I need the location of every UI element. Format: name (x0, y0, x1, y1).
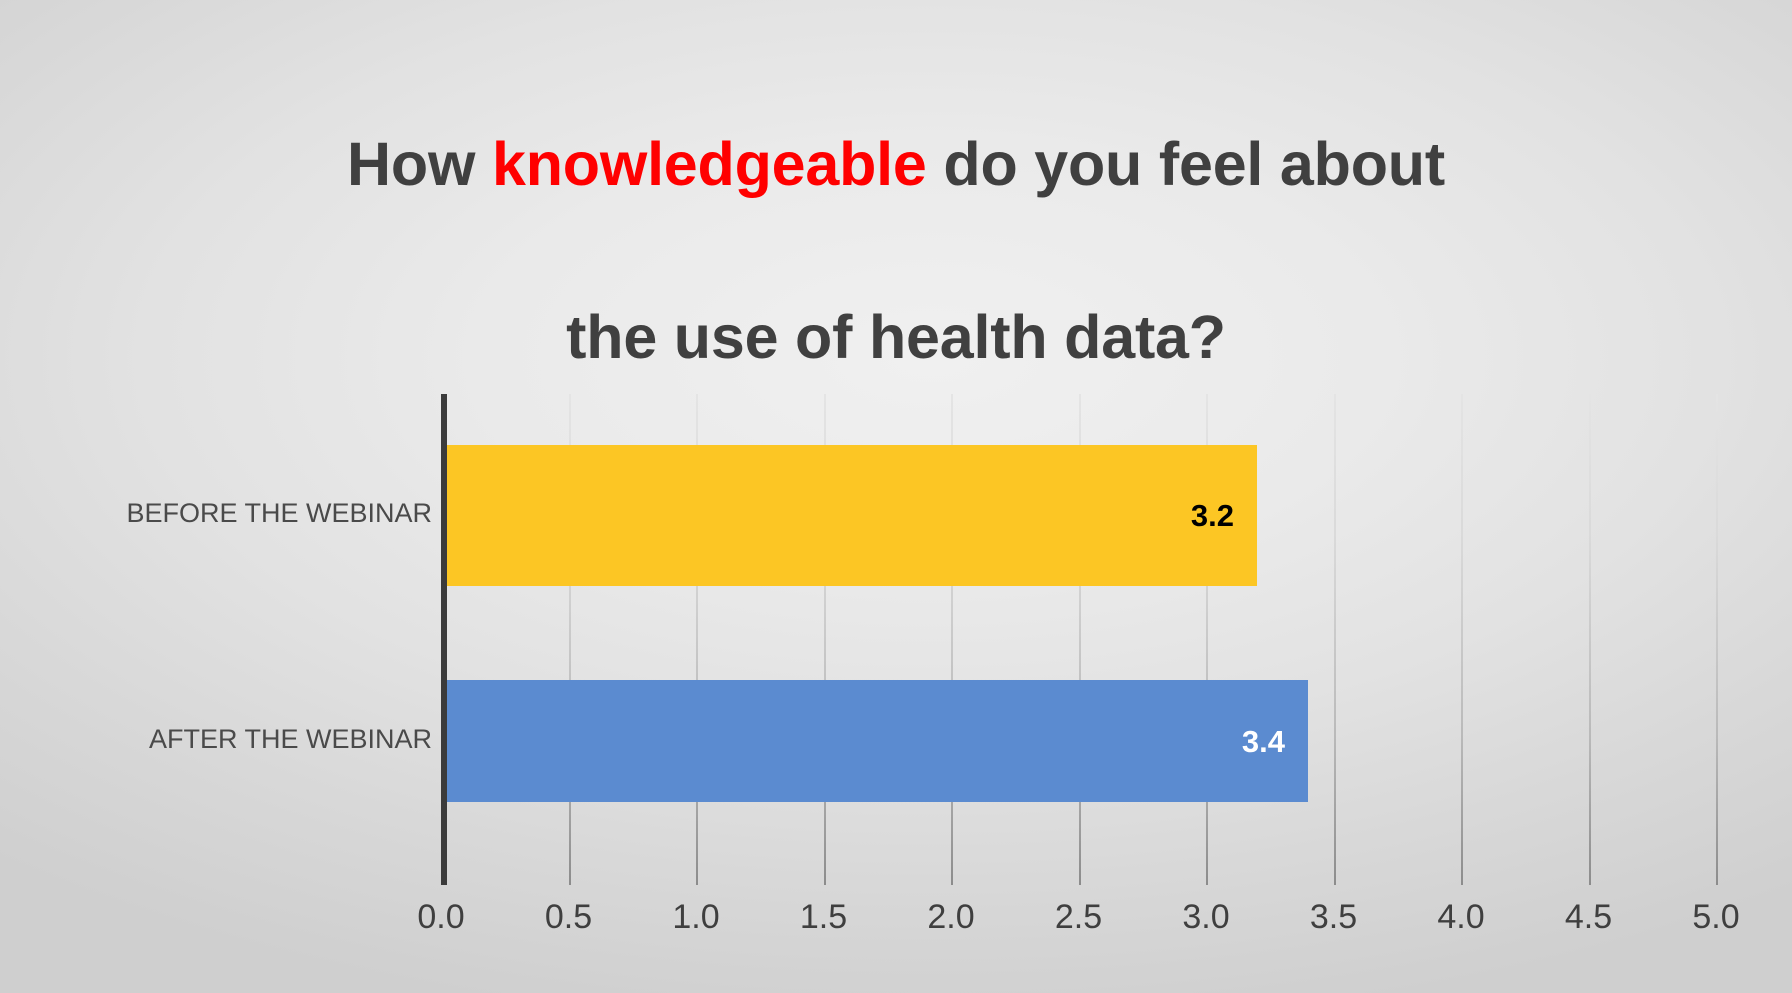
x-tick-label: 5.0 (1656, 898, 1776, 937)
x-tick-label: 0.0 (381, 898, 501, 937)
category-label-before: BEFORE THE WEBINAR (12, 498, 432, 529)
bar-value-label: 3.2 (1191, 500, 1257, 531)
x-tick-label: 1.5 (764, 898, 884, 937)
x-tick-label: 2.0 (891, 898, 1011, 937)
x-tick-label: 1.0 (636, 898, 756, 937)
x-tick-label: 4.0 (1401, 898, 1521, 937)
gridline (1589, 394, 1591, 885)
category-axis-line (441, 394, 447, 885)
bar-before-the-webinar[interactable]: 3.2 (441, 445, 1257, 586)
gridline (1334, 394, 1336, 885)
bar-chart: 3.23.4 BEFORE THE WEBINARAFTER THE WEBIN… (0, 0, 1792, 993)
gridline (1461, 394, 1463, 885)
bar-value-label: 3.4 (1242, 726, 1308, 757)
x-tick-label: 0.5 (509, 898, 629, 937)
gridline (1716, 394, 1718, 885)
x-tick-label: 3.0 (1146, 898, 1266, 937)
category-label-after: AFTER THE WEBINAR (12, 724, 432, 755)
x-tick-label: 3.5 (1274, 898, 1394, 937)
x-tick-label: 2.5 (1019, 898, 1139, 937)
slide-canvas: How knowledgeable do you feel about the … (0, 0, 1792, 993)
bar-after-the-webinar[interactable]: 3.4 (441, 680, 1308, 802)
x-tick-label: 4.5 (1529, 898, 1649, 937)
